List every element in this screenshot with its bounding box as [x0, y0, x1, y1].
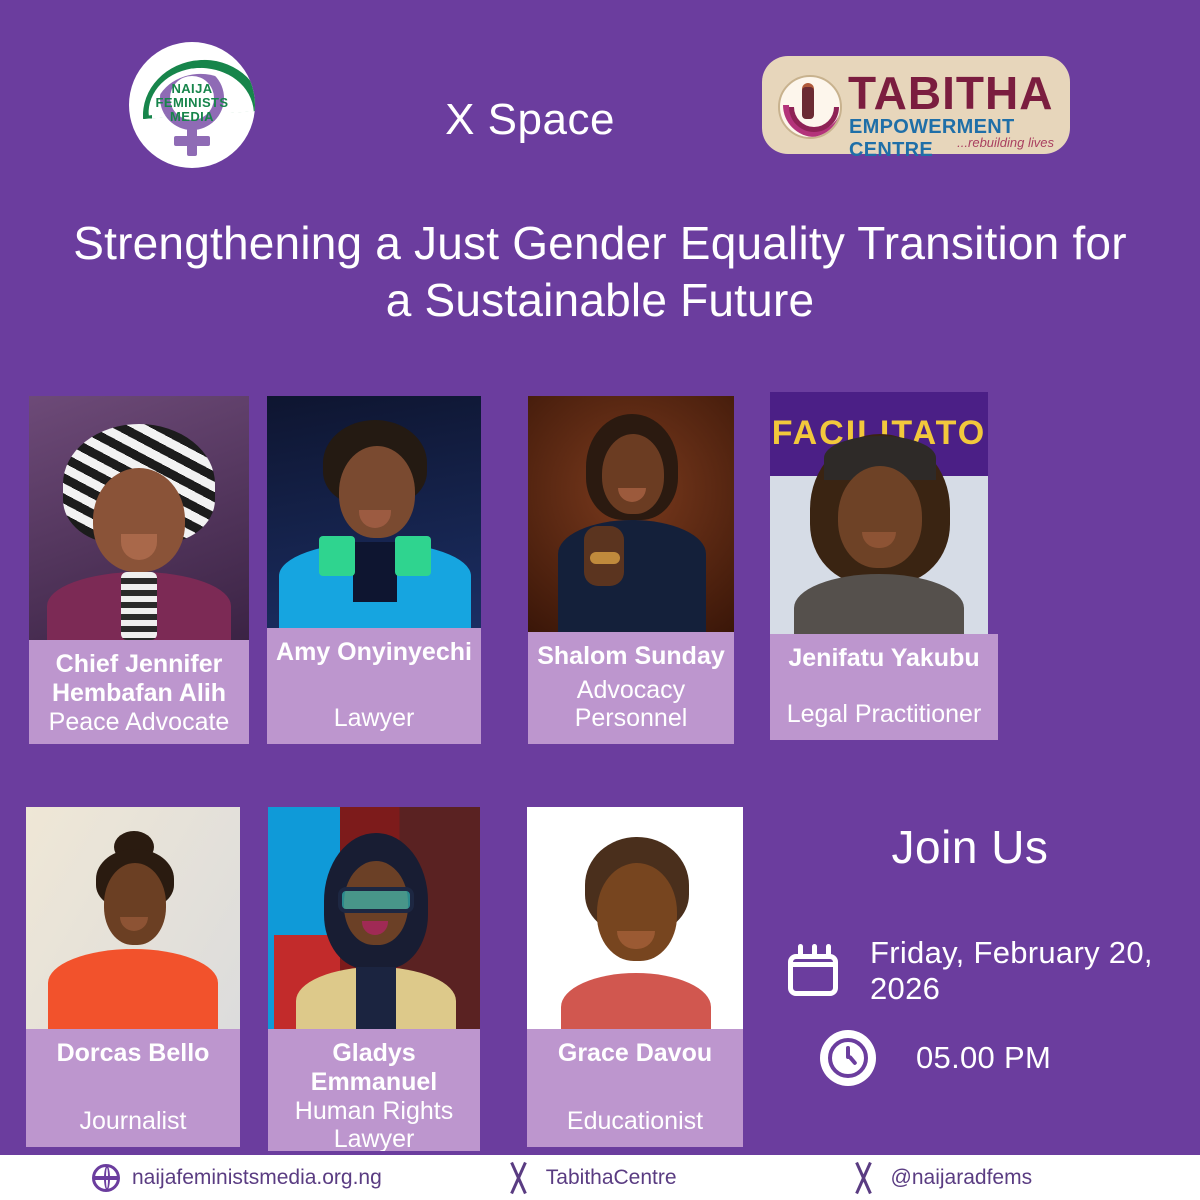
speaker-photo-1 [29, 396, 249, 640]
speaker-plate-2: Amy Onyinyechi Lawyer [267, 628, 481, 744]
tabitha-emblem-icon [778, 75, 842, 139]
speaker-role-3: Advocacy Personnel [534, 676, 728, 732]
speaker-plate-5: Dorcas Bello Journalist [26, 1029, 240, 1147]
speaker-name-5: Dorcas Bello [32, 1039, 234, 1068]
clock-icon [820, 1030, 876, 1086]
speaker-name-6: Gladys Emmanuel [274, 1039, 474, 1097]
speaker-photo-4: FACILITATO [770, 392, 988, 634]
speaker-photo-7 [527, 807, 743, 1029]
outfit-shape-3 [558, 520, 706, 632]
tabitha-tagline: ...rebuilding lives [957, 135, 1054, 150]
watch-shape-3 [590, 552, 620, 564]
inner-top-shape-6 [356, 967, 396, 1029]
poster-footer: naijafeministsmedia.org.ng TabithaCentre… [0, 1151, 1200, 1200]
tabitha-title: TABITHA [848, 68, 1053, 118]
speaker-name-2: Amy Onyinyechi [273, 638, 475, 667]
outfit-shape-5 [48, 949, 218, 1029]
footer-website-text: naijafeministsmedia.org.ng [132, 1166, 382, 1190]
speaker-photo-3 [528, 396, 734, 632]
logo-word-line3: MEDIA [129, 110, 255, 124]
speaker-role-2: Lawyer [273, 704, 475, 732]
speaker-plate-7: Grace Davou Educationist [527, 1029, 743, 1147]
logo-word-line1: NAIJA [129, 82, 255, 96]
speaker-photo-6 [268, 807, 480, 1029]
x-twitter-icon-2 [849, 1163, 879, 1193]
logo-artwork: NAIJA FEMINISTS MEDIA [129, 42, 255, 168]
speaker-plate-4: Jenifatu Yakubu Legal Practitioner [770, 634, 998, 740]
footer-website-item[interactable]: naijafeministsmedia.org.ng [92, 1164, 382, 1192]
calendar-body [788, 954, 838, 996]
lapel-left-shape-2 [319, 536, 355, 576]
naija-feminists-media-logo: NAIJA FEMINISTS MEDIA [129, 42, 255, 168]
face-shape-3 [602, 434, 664, 514]
event-time-text: 05.00 PM [916, 1040, 1051, 1076]
lapel-right-shape-2 [395, 536, 431, 576]
speaker-name-1: Chief Jennifer Hembafan Alih [35, 650, 243, 708]
speaker-role-7: Educationist [533, 1107, 737, 1135]
logo-word-line2: FEMINISTS [129, 96, 255, 110]
event-type-label: X Space [330, 95, 730, 145]
logo-wordmark: NAIJA FEMINISTS MEDIA [129, 82, 255, 124]
calendar-icon [786, 944, 844, 998]
calendar-header-bar [788, 962, 838, 967]
event-date-text: Friday, February 20, 2026 [870, 935, 1200, 1007]
speaker-name-7: Grace Davou [533, 1039, 737, 1068]
speaker-role-1: Peace Advocate [35, 708, 243, 736]
speaker-role-4: Legal Practitioner [776, 700, 992, 728]
speaker-photo-2 [267, 396, 481, 628]
speaker-role-5: Journalist [32, 1107, 234, 1135]
outfit-shape-4 [794, 574, 964, 634]
poster-header: NAIJA FEMINISTS MEDIA X Space TABITHA EM… [0, 0, 1200, 190]
event-time-row: 05.00 PM [820, 1030, 1051, 1086]
tabitha-empowerment-centre-logo: TABITHA EMPOWERMENT CENTRE ...rebuilding… [762, 56, 1070, 154]
beads-shape-1 [121, 572, 157, 640]
speaker-name-3: Shalom Sunday [534, 642, 728, 671]
globe-icon [92, 1164, 120, 1192]
collar-gap-shape-2 [353, 542, 397, 602]
speaker-role-6: Human Rights Lawyer [274, 1097, 474, 1153]
footer-tabitha-handle-text: TabithaCentre [546, 1166, 677, 1190]
x-twitter-icon [504, 1163, 534, 1193]
event-date-row: Friday, February 20, 2026 [786, 935, 1200, 1007]
join-us-heading: Join Us [800, 820, 1140, 874]
venus-cross-shape [174, 136, 210, 146]
speaker-name-4: Jenifatu Yakubu [776, 644, 992, 673]
speaker-plate-3: Shalom Sunday Advocacy Personnel [528, 632, 734, 744]
footer-nfm-handle-item[interactable]: @naijaradfems [849, 1163, 1033, 1193]
face-shape-5 [104, 863, 166, 945]
poster-title: Strengthening a Just Gender Equality Tra… [60, 215, 1140, 329]
speaker-plate-6: Gladys Emmanuel Human Rights Lawyer [268, 1029, 480, 1153]
face-shape-4 [838, 466, 922, 568]
event-poster: NAIJA FEMINISTS MEDIA X Space TABITHA EM… [0, 0, 1200, 1200]
footer-nfm-handle-text: @naijaradfems [891, 1166, 1033, 1190]
footer-tabitha-handle-item[interactable]: TabithaCentre [504, 1163, 677, 1193]
speaker-plate-1: Chief Jennifer Hembafan Alih Peace Advoc… [29, 640, 249, 744]
speaker-photo-5 [26, 807, 240, 1029]
glasses-icon-6 [338, 887, 414, 913]
